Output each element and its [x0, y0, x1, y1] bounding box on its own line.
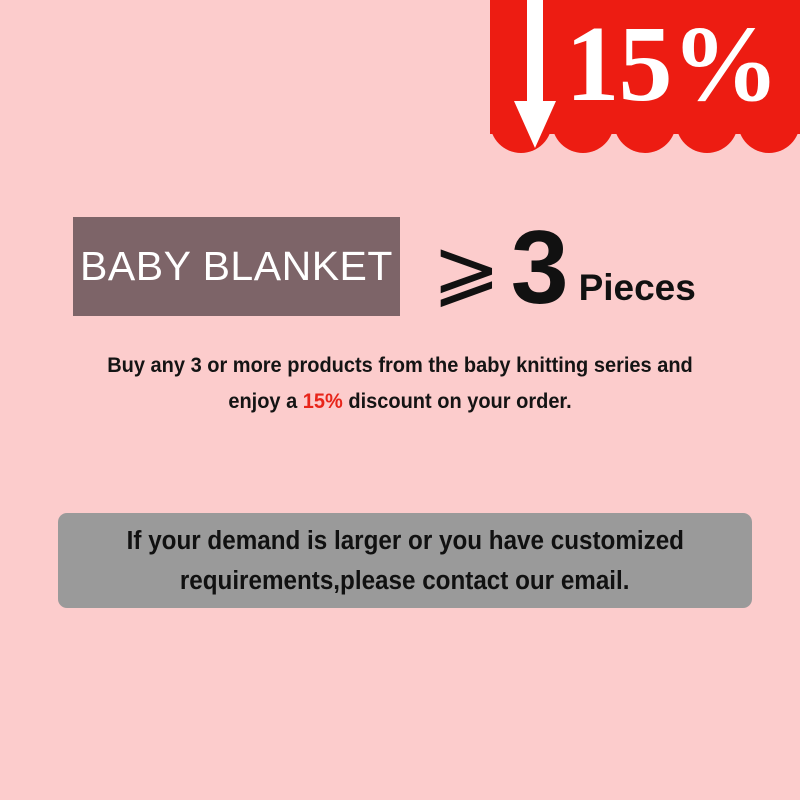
- contact-notice: If your demand is larger or you have cus…: [58, 513, 752, 608]
- minimum-quantity-value: 3: [511, 220, 567, 316]
- greater-or-equal-icon: ⩾: [432, 228, 501, 312]
- offer-description-text-2a: enjoy a: [228, 389, 302, 413]
- offer-discount-highlight: 15%: [303, 389, 343, 413]
- offer-description: Buy any 3 or more products from the baby…: [79, 347, 721, 419]
- offer-description-text-2b: discount on your order.: [343, 389, 572, 413]
- minimum-quantity-unit: Pieces: [579, 266, 696, 310]
- promo-banner-page: 15% BABY BLANKET ⩾ 3 Pieces Buy any 3 or…: [0, 0, 800, 800]
- contact-notice-line-1: If your demand is larger or you have cus…: [126, 521, 683, 561]
- minimum-quantity: ⩾ 3 Pieces: [432, 217, 696, 316]
- product-category-chip: BABY BLANKET: [73, 217, 400, 316]
- offer-description-text-1: Buy any 3 or more products from the baby…: [107, 353, 693, 377]
- discount-percentage: 15%: [552, 6, 792, 124]
- contact-notice-line-2: requirements,please contact our email.: [180, 561, 630, 601]
- discount-banner: 15%: [490, 0, 800, 156]
- offer-description-line-2: enjoy a 15% discount on your order.: [79, 383, 721, 419]
- product-category-label: BABY BLANKET: [80, 243, 393, 290]
- offer-description-line-1: Buy any 3 or more products from the baby…: [79, 347, 721, 383]
